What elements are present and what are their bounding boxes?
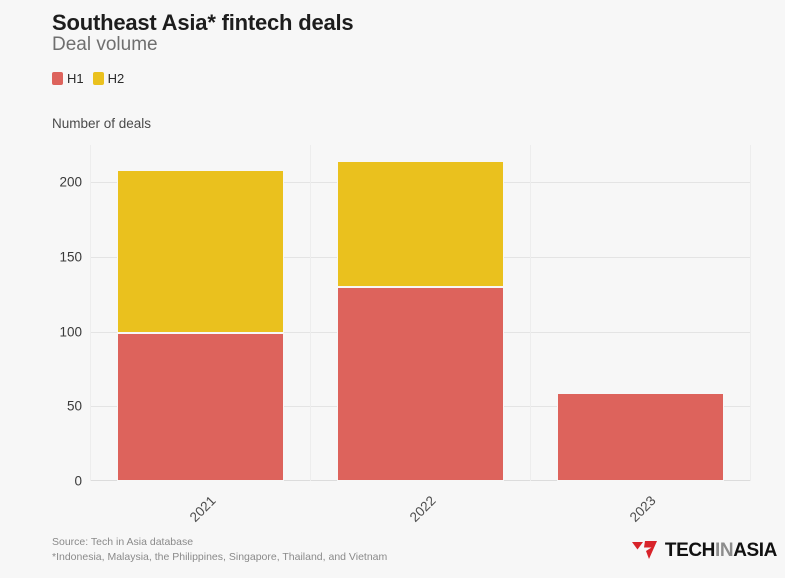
source-line: Source: Tech in Asia database xyxy=(52,535,387,551)
legend-item-h1[interactable]: H1 xyxy=(52,71,84,86)
plot-area: 050100150200202120222023 xyxy=(90,145,750,481)
category-divider xyxy=(750,145,751,481)
legend-item-h2[interactable]: H2 xyxy=(93,71,125,86)
y-axis-tick-label: 0 xyxy=(46,474,82,488)
legend-swatch-h1 xyxy=(52,72,63,85)
tech-in-asia-arrow-mark-icon xyxy=(631,540,658,561)
bar-2023[interactable] xyxy=(557,145,724,481)
bar-2021[interactable] xyxy=(117,145,284,481)
y-axis-title: Number of deals xyxy=(52,116,151,131)
chart-title: Southeast Asia* fintech deals xyxy=(52,10,353,36)
category-divider xyxy=(310,145,311,481)
y-axis-tick-label: 150 xyxy=(46,250,82,264)
bar-segment-2022-H2[interactable] xyxy=(337,161,504,286)
chart-legend: H1 H2 xyxy=(52,71,124,86)
category-divider xyxy=(530,145,531,481)
bar-segment-2021-H2[interactable] xyxy=(117,170,284,333)
y-axis-tick-label: 50 xyxy=(46,400,82,414)
legend-swatch-h2 xyxy=(93,72,104,85)
y-axis-tick-label: 100 xyxy=(46,325,82,339)
category-divider xyxy=(90,145,91,481)
logo-word-tech: TECH xyxy=(665,540,715,561)
chart-subtitle: Deal volume xyxy=(52,34,158,56)
x-axis-tick-label-2021: 2021 xyxy=(187,493,219,525)
footer-notes: Source: Tech in Asia database *Indonesia… xyxy=(52,535,387,567)
bar-segment-2023-H1[interactable] xyxy=(557,393,724,481)
chart-card: Southeast Asia* fintech deals Deal volum… xyxy=(0,0,785,578)
legend-label-h1: H1 xyxy=(67,71,84,86)
legend-label-h2: H2 xyxy=(108,71,125,86)
tech-in-asia-wordmark: TECHINASIA xyxy=(665,541,777,560)
x-axis-tick-label-2023: 2023 xyxy=(627,493,659,525)
x-axis-tick-label-2022: 2022 xyxy=(407,493,439,525)
y-axis-tick-label: 200 xyxy=(46,176,82,190)
logo-word-in: IN xyxy=(715,540,733,561)
country-note-line: *Indonesia, Malaysia, the Philippines, S… xyxy=(52,550,387,566)
logo-word-asia: ASIA xyxy=(733,540,777,561)
tech-in-asia-logo: TECHINASIA xyxy=(631,540,777,561)
bar-2022[interactable] xyxy=(337,145,504,481)
bar-segment-2021-H1[interactable] xyxy=(117,333,284,481)
bar-segment-2022-H1[interactable] xyxy=(337,287,504,481)
